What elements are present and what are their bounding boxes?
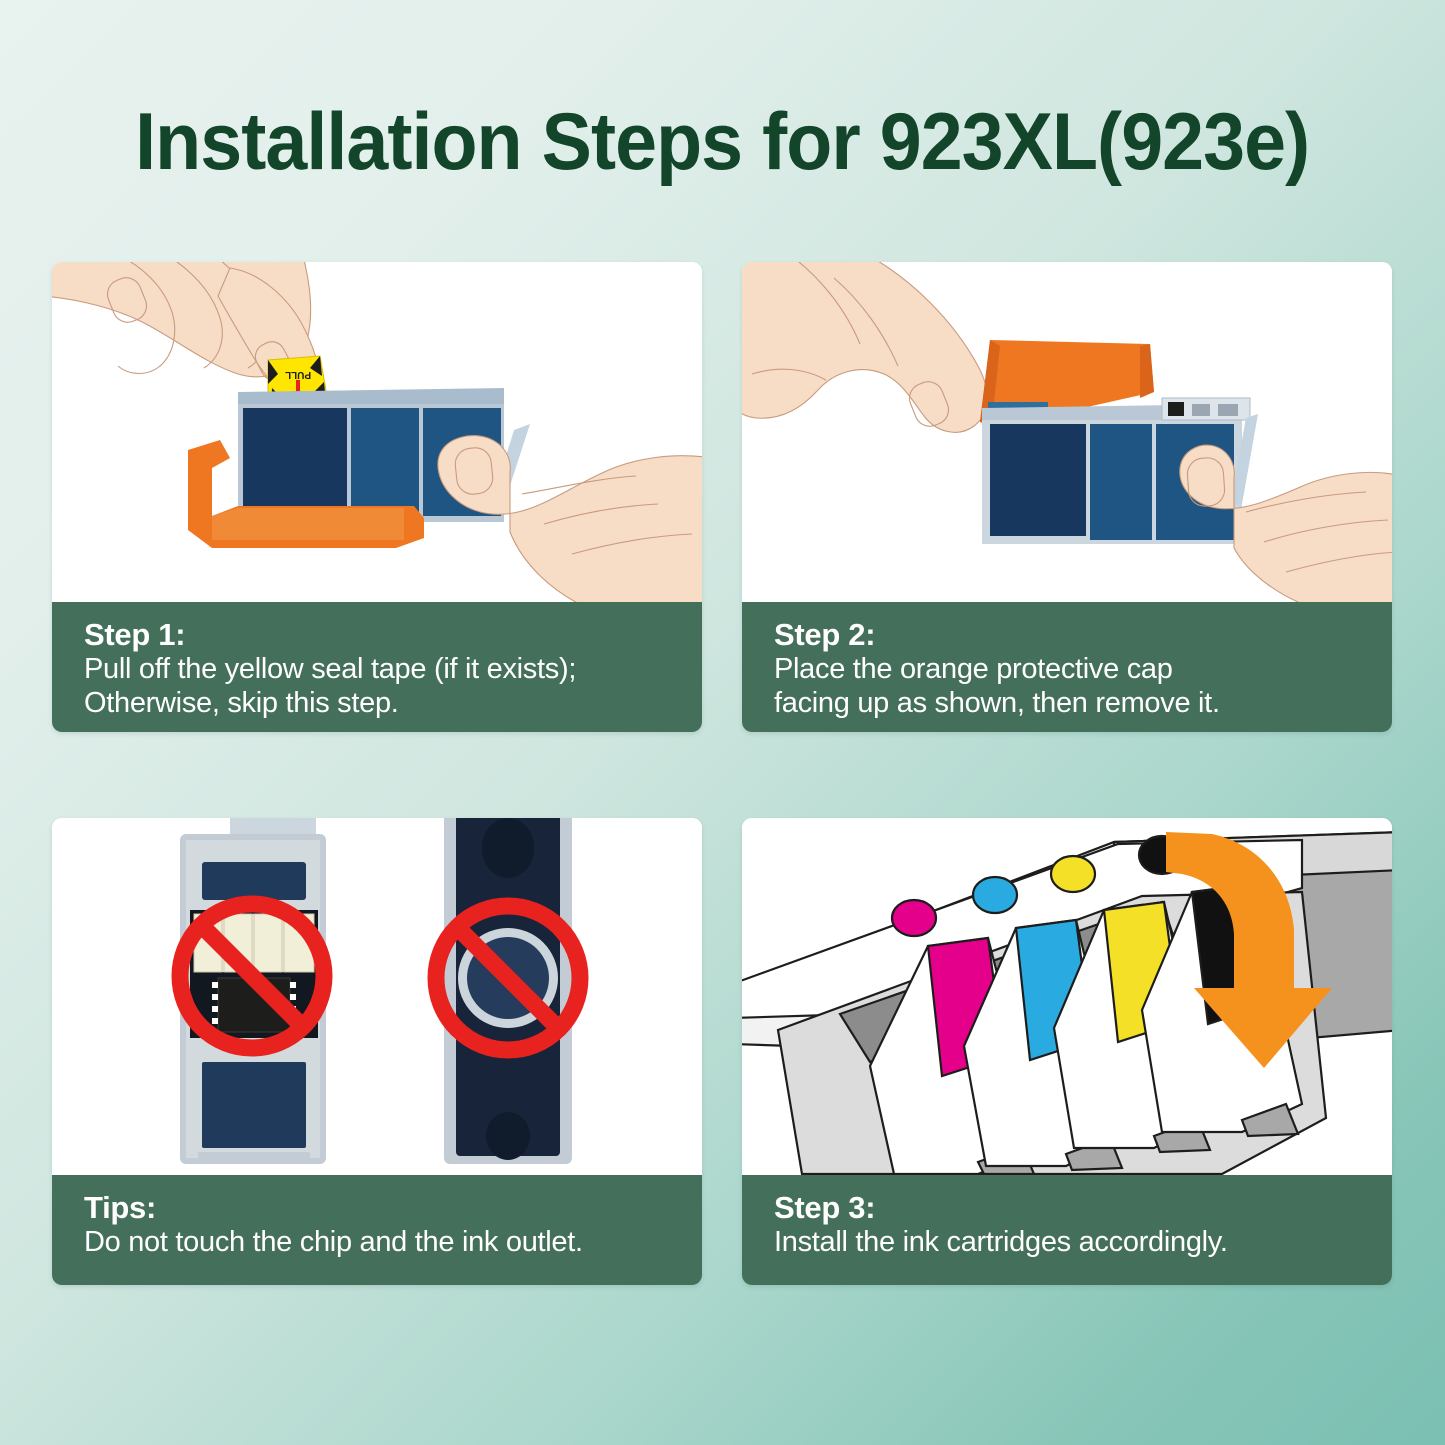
color-dot-magenta <box>892 900 936 936</box>
illustration-step-2 <box>742 262 1392 602</box>
do-not-touch-chip-and-outlet-icon <box>52 818 702 1175</box>
caption-line-1: Install the ink cartridges accordingly. <box>774 1226 1228 1258</box>
caption-title: Step 2: <box>774 618 1364 651</box>
svg-text:PULL: PULL <box>285 369 311 380</box>
cartridge-chip-view <box>180 818 326 1164</box>
caption-line-2: Otherwise, skip this step. <box>84 687 674 721</box>
panel-step-2: Step 2: Place the orange protective cap … <box>742 262 1392 732</box>
cartridge-ink-outlet-view <box>444 818 572 1164</box>
hands-removing-orange-cap-icon <box>742 262 1392 602</box>
caption-title: Step 3: <box>774 1191 1364 1224</box>
page-title-container: Installation Steps for 923XL(923e) <box>0 92 1445 192</box>
caption-title: Tips: <box>84 1191 674 1224</box>
color-dot-cyan <box>973 877 1017 913</box>
caption-title: Step 1: <box>84 618 674 651</box>
caption-line-2: facing up as shown, then remove it. <box>774 687 1364 721</box>
caption-line-1: Place the orange protective cap <box>774 653 1173 685</box>
page-title: Installation Steps for 923XL(923e) <box>135 96 1309 189</box>
caption-body: Do not touch the chip and the ink outlet… <box>84 1226 674 1260</box>
caption-line-1: Do not touch the chip and the ink outlet… <box>84 1226 583 1258</box>
caption-step-3: Step 3: Install the ink cartridges accor… <box>742 1175 1392 1285</box>
illustration-step-1: PULL <box>52 262 702 602</box>
printer-carriage-icon <box>742 818 1392 1175</box>
caption-body: Place the orange protective cap facing u… <box>774 653 1364 721</box>
panel-step-1: PULL Step 1: <box>52 262 702 732</box>
caption-tips: Tips: Do not touch the chip and the ink … <box>52 1175 702 1285</box>
illustration-tips <box>52 818 702 1175</box>
color-dot-yellow <box>1051 856 1095 892</box>
caption-body: Install the ink cartridges accordingly. <box>774 1226 1364 1260</box>
panel-tips: Tips: Do not touch the chip and the ink … <box>52 818 702 1285</box>
hand-pulling-yellow-seal-tape-icon: PULL <box>52 262 702 602</box>
caption-body: Pull off the yellow seal tape (if it exi… <box>84 653 674 721</box>
illustration-step-3 <box>742 818 1392 1175</box>
caption-step-2: Step 2: Place the orange protective cap … <box>742 602 1392 732</box>
panel-step-3: Step 3: Install the ink cartridges accor… <box>742 818 1392 1285</box>
caption-step-1: Step 1: Pull off the yellow seal tape (i… <box>52 602 702 732</box>
caption-line-1: Pull off the yellow seal tape (if it exi… <box>84 653 576 685</box>
